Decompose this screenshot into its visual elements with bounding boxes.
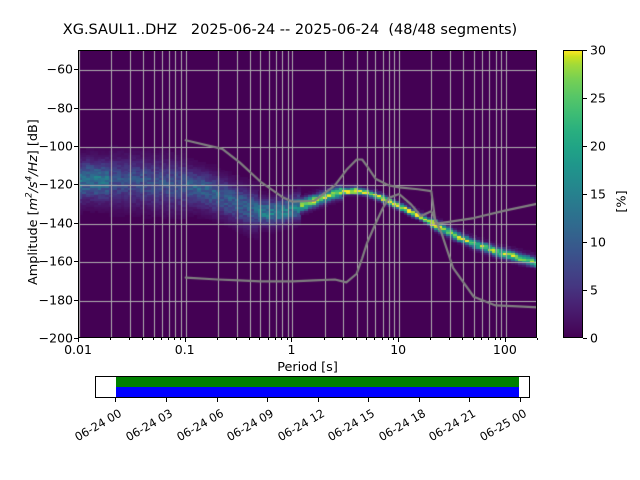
x-axis-tick-label: 0.1: [175, 342, 195, 357]
x-axis-tick-minor: [110, 338, 111, 340]
y-axis-tick: [74, 184, 78, 185]
coverage-axes: [95, 376, 530, 398]
x-axis-tick-minor: [180, 338, 181, 340]
x-axis-tick-label: 1: [287, 342, 295, 357]
colorbar-tick-label: 0: [590, 331, 598, 346]
coverage-tick: [267, 398, 268, 402]
coverage-tick-label: 06-24 03: [113, 406, 175, 450]
coverage-tick-label: 06-25 00: [467, 406, 529, 450]
x-axis-tick-minor: [473, 338, 474, 340]
x-axis-tick-minor: [342, 338, 343, 340]
y-axis-tick: [74, 223, 78, 224]
x-axis-tick-minor: [488, 338, 489, 340]
y-axis-tick-label: −100: [39, 139, 73, 154]
ppsd-plot-area: [78, 50, 537, 338]
x-axis-tick-minor: [374, 338, 375, 340]
x-axis-tick-minor: [366, 338, 367, 340]
x-axis-tick-minor: [275, 338, 276, 340]
colorbar-tick-label: 30: [590, 43, 606, 58]
x-axis-tick-minor: [324, 338, 325, 340]
y-axis-tick: [74, 108, 78, 109]
x-axis-tick-minor: [537, 338, 538, 340]
y-axis-tick: [74, 146, 78, 147]
colorbar-tick: [583, 338, 587, 339]
figure-title: XG.SAUL1..DHZ 2025-06-24 -- 2025-06-24 (…: [0, 22, 580, 38]
y-axis-tick-label: −160: [39, 254, 73, 269]
coverage-tick: [419, 398, 420, 402]
x-axis-tick-minor: [168, 338, 169, 340]
x-axis-tick-minor: [217, 338, 218, 340]
x-axis-tick-minor: [287, 338, 288, 340]
x-axis-tick-minor: [142, 338, 143, 340]
x-axis-tick-minor: [129, 338, 130, 340]
coverage-bar-blue: [116, 387, 519, 397]
coverage-tick: [368, 398, 369, 402]
x-axis-tick-minor: [281, 338, 282, 340]
x-axis-tick-minor: [356, 338, 357, 340]
x-axis-tick-minor: [236, 338, 237, 340]
x-axis-tick-label: 100: [493, 342, 517, 357]
y-axis-tick-label: −140: [39, 215, 73, 230]
colorbar-tick-label: 20: [590, 139, 606, 154]
x-axis-tick-label: 10: [390, 342, 406, 357]
colorbar-tick: [583, 290, 587, 291]
colorbar-tick-label: 5: [590, 283, 598, 298]
coverage-tick: [469, 398, 470, 402]
colorbar-tick: [583, 50, 587, 51]
x-axis-tick-minor: [449, 338, 450, 340]
coverage-tick: [217, 398, 218, 402]
colorbar-tick: [583, 194, 587, 195]
x-axis-tick-minor: [174, 338, 175, 340]
colorbar-tick: [583, 146, 587, 147]
x-axis-tick-minor: [393, 338, 394, 340]
x-axis-tick-minor: [495, 338, 496, 340]
coverage-tick: [115, 398, 116, 402]
x-axis-label: Period [s]: [78, 360, 537, 375]
coverage-tick: [520, 398, 521, 402]
x-axis-tick-minor: [268, 338, 269, 340]
y-axis-tick-label: −60: [47, 62, 73, 77]
colorbar-tick-label: 25: [590, 91, 606, 106]
coverage-tick: [318, 398, 319, 402]
x-axis-tick-minor: [153, 338, 154, 340]
x-axis-tick-minor: [462, 338, 463, 340]
x-axis-tick-label: 0.01: [64, 342, 92, 357]
coverage-bar-green: [116, 377, 519, 387]
y-axis-tick-label: −120: [39, 177, 73, 192]
x-axis-tick-minor: [430, 338, 431, 340]
colorbar-tick: [583, 98, 587, 99]
x-axis-tick-minor: [481, 338, 482, 340]
colorbar-label: [%]: [615, 162, 630, 242]
ppsd-density-canvas: [79, 51, 537, 338]
ppsd-figure: XG.SAUL1..DHZ 2025-06-24 -- 2025-06-24 (…: [0, 0, 640, 480]
x-axis-tick-minor: [259, 338, 260, 340]
x-axis-tick-minor: [500, 338, 501, 340]
y-axis-tick: [74, 261, 78, 262]
colorbar-tick: [583, 242, 587, 243]
x-axis-tick-minor: [382, 338, 383, 340]
x-axis-tick-minor: [249, 338, 250, 340]
colorbar-tick-label: 15: [590, 187, 606, 202]
coverage-tick: [166, 398, 167, 402]
x-axis-tick-minor: [388, 338, 389, 340]
y-axis-tick: [74, 69, 78, 70]
colorbar: [563, 50, 583, 338]
y-axis-tick-label: −180: [39, 292, 73, 307]
x-axis-tick-minor: [161, 338, 162, 340]
y-axis-tick: [74, 300, 78, 301]
y-axis-tick-label: −80: [47, 100, 73, 115]
colorbar-tick-label: 10: [590, 235, 606, 250]
